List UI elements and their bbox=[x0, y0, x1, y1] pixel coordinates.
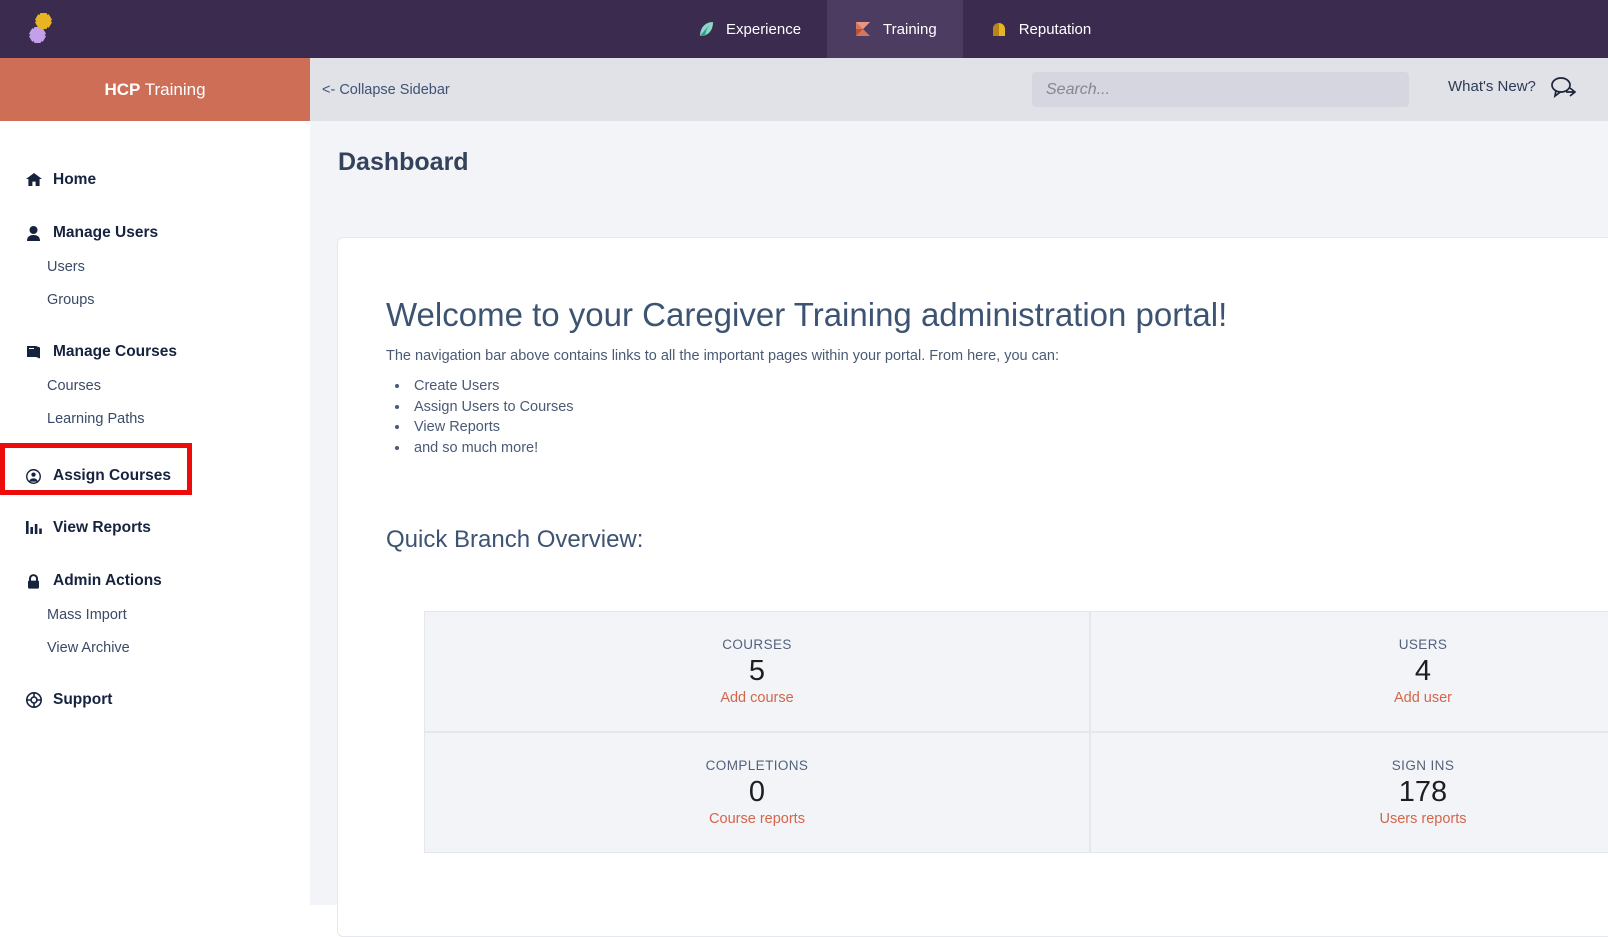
sidebar-subitem-mass-import[interactable]: Mass Import bbox=[0, 598, 310, 631]
brand-bold-text: HCP bbox=[104, 80, 140, 99]
list-item: Create Users bbox=[410, 376, 574, 397]
stat-label: COMPLETIONS bbox=[706, 758, 809, 773]
sidebar-item-view-reports[interactable]: View Reports bbox=[0, 511, 310, 545]
tab-reputation-label: Reputation bbox=[1019, 21, 1092, 38]
sidebar-navigation: Home Manage Users Users Groups Manage Co… bbox=[0, 121, 310, 905]
page-title: Dashboard bbox=[338, 148, 469, 177]
sidebar-item-manage-users-label: Manage Users bbox=[53, 224, 158, 242]
sidebar-item-admin-actions-label: Admin Actions bbox=[53, 572, 162, 590]
sidebar-item-manage-courses[interactable]: Manage Courses bbox=[0, 335, 310, 369]
flag-icon bbox=[853, 19, 873, 39]
collapse-sidebar-link[interactable]: <- Collapse Sidebar bbox=[322, 82, 450, 98]
sidebar-subitem-groups[interactable]: Groups bbox=[0, 283, 310, 316]
stat-value: 178 bbox=[1399, 775, 1447, 809]
list-item: and so much more! bbox=[410, 438, 574, 459]
tab-experience[interactable]: Experience bbox=[670, 0, 827, 58]
tab-training-label: Training bbox=[883, 21, 937, 38]
tab-training[interactable]: Training bbox=[827, 0, 963, 58]
stat-card-completions: COMPLETIONS 0 Course reports bbox=[424, 732, 1090, 853]
speech-bubble-icon[interactable] bbox=[1550, 76, 1576, 100]
welcome-paragraph: The navigation bar above contains links … bbox=[386, 348, 1059, 364]
welcome-heading: Welcome to your Caregiver Training admin… bbox=[386, 296, 1227, 334]
stat-label: USERS bbox=[1399, 637, 1448, 652]
list-item: Assign Users to Courses bbox=[410, 397, 574, 418]
lock-icon bbox=[25, 574, 42, 589]
stat-value: 0 bbox=[749, 775, 765, 809]
tab-experience-label: Experience bbox=[726, 21, 801, 38]
user-circle-icon bbox=[25, 469, 42, 484]
course-reports-link[interactable]: Course reports bbox=[709, 811, 805, 827]
stat-label: COURSES bbox=[722, 637, 792, 652]
sidebar-item-view-reports-label: View Reports bbox=[53, 519, 151, 537]
utility-bar: <- Collapse Sidebar What's New? bbox=[310, 58, 1608, 121]
sidebar-item-assign-courses-label: Assign Courses bbox=[53, 467, 171, 485]
sidebar-brand-label: HCP Training bbox=[104, 80, 205, 100]
stat-card-courses: COURSES 5 Add course bbox=[424, 611, 1090, 732]
main-content: Dashboard Welcome to your Caregiver Trai… bbox=[310, 121, 1608, 905]
brand-logo[interactable] bbox=[0, 0, 80, 58]
user-icon bbox=[25, 226, 42, 241]
list-item: View Reports bbox=[410, 417, 574, 438]
welcome-bullet-list: Create Users Assign Users to Courses Vie… bbox=[410, 376, 574, 458]
stat-card-users: USERS 4 Add user bbox=[1090, 611, 1608, 732]
sidebar-subitem-learning-paths[interactable]: Learning Paths bbox=[0, 402, 310, 435]
top-navigation-bar: Experience Training Reputation bbox=[0, 0, 1608, 58]
leaf-icon bbox=[696, 19, 716, 39]
sidebar-item-manage-users[interactable]: Manage Users bbox=[0, 216, 310, 250]
sidebar-item-admin-actions[interactable]: Admin Actions bbox=[0, 564, 310, 598]
badge-icon bbox=[989, 19, 1009, 39]
search-input[interactable] bbox=[1032, 72, 1409, 107]
asterisk-logo-icon bbox=[20, 9, 60, 49]
sidebar-item-home[interactable]: Home bbox=[0, 163, 310, 197]
users-reports-link[interactable]: Users reports bbox=[1379, 811, 1466, 827]
stat-card-sign-ins: SIGN INS 178 Users reports bbox=[1090, 732, 1608, 853]
whats-new-link[interactable]: What's New? bbox=[1448, 78, 1536, 95]
sidebar-item-manage-courses-label: Manage Courses bbox=[53, 343, 177, 361]
stats-grid: COURSES 5 Add course USERS 4 Add user CO… bbox=[424, 611, 1608, 853]
sidebar-item-support[interactable]: Support bbox=[0, 683, 310, 717]
sidebar-item-home-label: Home bbox=[53, 171, 96, 189]
home-icon bbox=[25, 173, 42, 187]
add-user-link[interactable]: Add user bbox=[1394, 690, 1452, 706]
sidebar-item-assign-courses[interactable]: Assign Courses bbox=[0, 457, 310, 495]
dashboard-panel: Welcome to your Caregiver Training admin… bbox=[337, 237, 1608, 937]
sidebar-subitem-view-archive[interactable]: View Archive bbox=[0, 631, 310, 664]
bar-chart-icon bbox=[25, 521, 42, 535]
stat-value: 4 bbox=[1415, 654, 1431, 688]
book-icon bbox=[25, 345, 42, 359]
life-ring-icon bbox=[25, 692, 42, 708]
sidebar-item-support-label: Support bbox=[53, 691, 112, 709]
stat-value: 5 bbox=[749, 654, 765, 688]
overview-heading: Quick Branch Overview: bbox=[386, 526, 643, 554]
top-tabs: Experience Training Reputation bbox=[670, 0, 1117, 58]
tab-reputation[interactable]: Reputation bbox=[963, 0, 1118, 58]
stat-label: SIGN INS bbox=[1392, 758, 1454, 773]
sidebar-brand-header[interactable]: HCP Training bbox=[0, 58, 310, 121]
add-course-link[interactable]: Add course bbox=[720, 690, 793, 706]
sidebar-subitem-users[interactable]: Users bbox=[0, 250, 310, 283]
sidebar-subitem-courses[interactable]: Courses bbox=[0, 369, 310, 402]
brand-rest-text: Training bbox=[145, 80, 206, 99]
